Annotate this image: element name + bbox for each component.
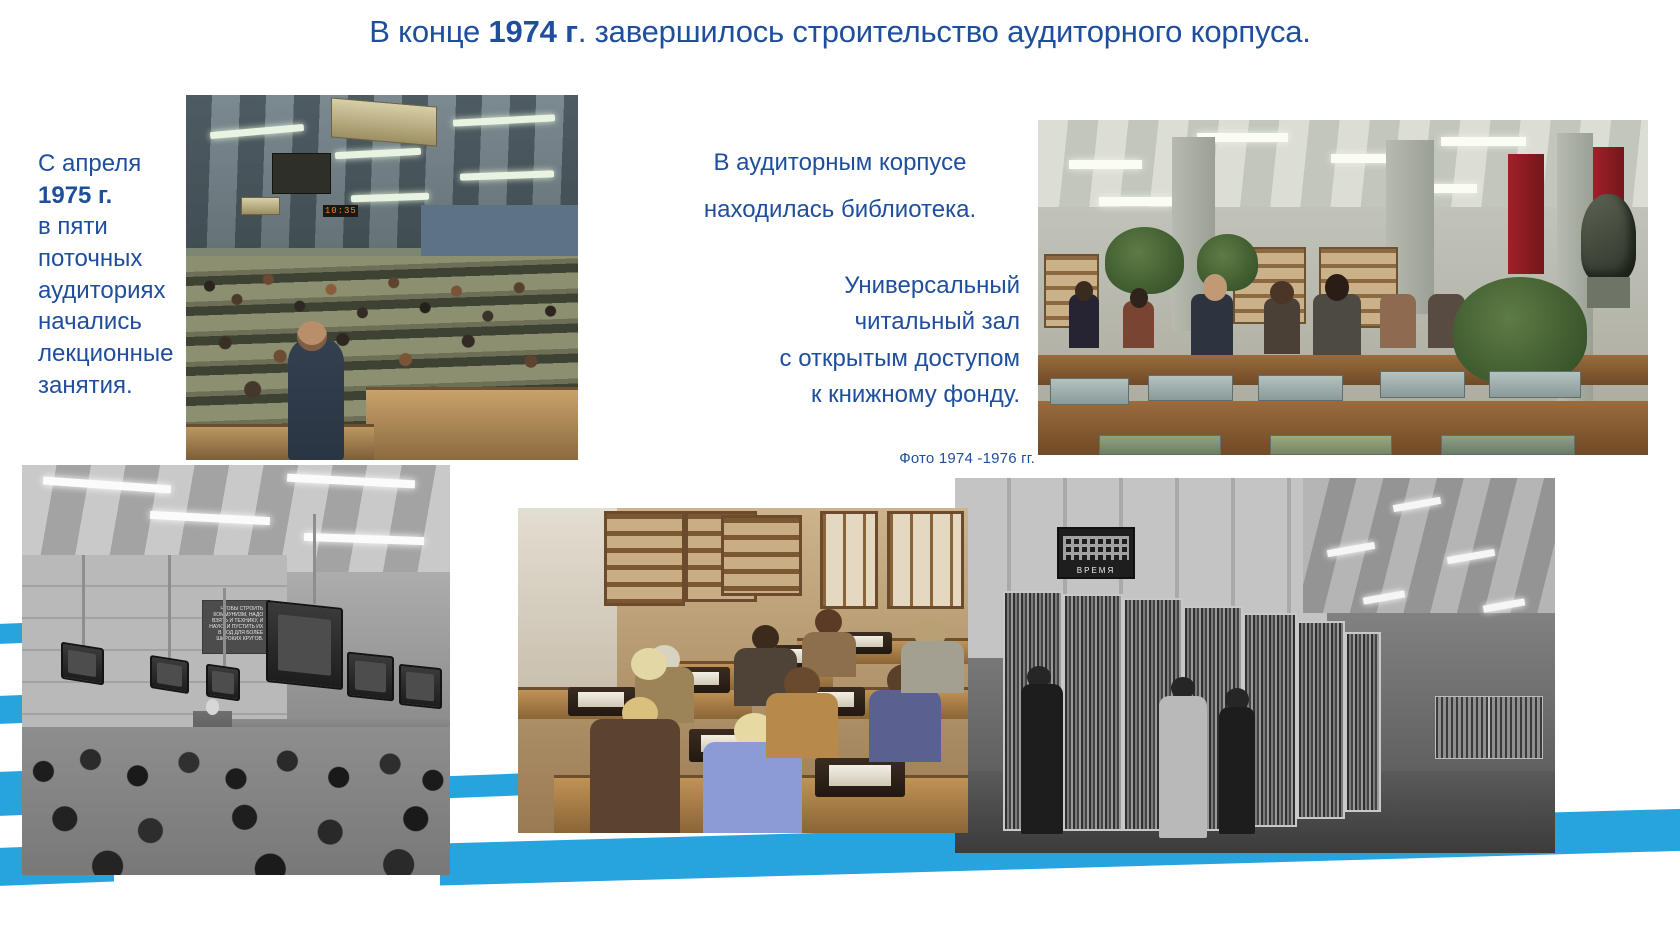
middle-text-block-1: В аудиторным корпусе находилась библиоте… [660,140,1020,234]
room-wall [518,508,617,710]
slogan-banner: ЧТОБЫ СТРОИТЬ КОММУНИЗМ, НАДО ВЗЯТЬ И ТЕ… [202,600,270,653]
reader-figure [1219,707,1255,835]
bronze-bust [1581,194,1636,281]
photo-open-stacks-bw: ВРЕМЯ [955,478,1555,853]
open-book [1441,435,1575,455]
front-desk [366,387,578,460]
reader-figure [1021,684,1063,834]
middle-text-2-line-4: к книжному фонду. [660,377,1020,413]
reader [1191,294,1234,361]
tv-monitor [347,651,394,701]
photo-microfilm-room-color [518,508,968,833]
speaker-head [206,699,219,715]
middle-text-block-2: Универсальный читальный зал с открытым д… [660,268,1020,414]
reader-figure [1159,696,1207,839]
distant-shelf [1435,696,1489,760]
reader [1069,294,1100,348]
open-book [1099,435,1221,455]
middle-text-1-line-2: находилась библиотека. [660,187,1020,234]
tv-monitor [61,642,104,686]
open-book [1270,435,1392,455]
hanging-plant [1105,227,1184,294]
red-curtain [1508,154,1545,275]
reader-head [1075,281,1093,301]
student-figure [869,690,941,762]
reader [1123,301,1154,348]
middle-text-1-line-1: В аудиторным корпусе [660,140,1020,187]
reader-head [1325,274,1349,301]
reader-head [1203,274,1227,301]
reader [1264,298,1301,355]
document-folder [1148,375,1233,402]
tv-monitor [206,663,240,701]
ceiling-light [1099,197,1172,206]
mount-pole [313,514,316,604]
student-figure [590,719,680,833]
title-prefix: В конце [369,14,488,49]
audience [22,727,450,875]
student-figure [766,693,838,758]
lecturer-figure [288,336,344,460]
document-folder [1050,378,1129,405]
microfilm-reader [815,758,905,797]
book-stack [1063,594,1123,830]
photo-lecture-hall-color: 10:35 [186,95,578,460]
tv-monitor [150,655,189,694]
reader-head [1130,288,1148,308]
student-figure [901,641,964,693]
title-emphasis: 1974 г [489,14,578,49]
middle-text-2-line-3: с открытым доступом [660,341,1020,377]
middle-text-2-line-1: Универсальный [660,268,1020,304]
photo-date-caption: Фото 1974 -1976 гг. [660,450,1035,467]
ceiling-equipment [272,153,331,193]
reader [1380,294,1417,348]
document-folder [1489,371,1581,398]
photo-reading-room-color [1038,120,1648,455]
middle-text-2-line-2: читальный зал [660,304,1020,340]
ceiling-light [1441,137,1526,146]
mount-pole [168,555,171,666]
mount-pole [223,588,226,670]
board-label: ВРЕМЯ [1059,566,1133,575]
display-case [820,511,879,609]
book-stack [1345,632,1381,812]
tv-monitor [399,664,442,709]
palm-plant [1453,277,1587,384]
document-folder [1380,371,1465,398]
book-stack [1297,621,1345,820]
page-title: В конце 1974 г. завершилось строительств… [0,14,1680,50]
student-head [631,648,667,681]
bookshelf [604,511,685,605]
tv-monitor-large [266,600,343,690]
bookshelf [721,515,802,596]
bust-pedestal [1587,277,1630,307]
board-dot-matrix [1063,536,1128,560]
time-display-board: ВРЕМЯ [1057,527,1135,580]
title-suffix: . завершилось строительство аудиторного … [578,14,1311,49]
distant-shelf [1489,696,1543,760]
front-bench [186,424,374,461]
photo-lecture-hall-bw: ЧТОБЫ СТРОИТЬ КОММУНИЗМ, НАДО ВЗЯТЬ И ТЕ… [22,465,450,875]
student-head [815,609,842,635]
mount-pole [82,555,85,653]
ceiling-light [1069,160,1142,169]
ceiling-equipment [241,197,280,215]
slide-canvas: В конце 1974 г. завершилось строительств… [0,0,1680,945]
document-folder [1258,375,1343,402]
display-case [887,511,964,609]
